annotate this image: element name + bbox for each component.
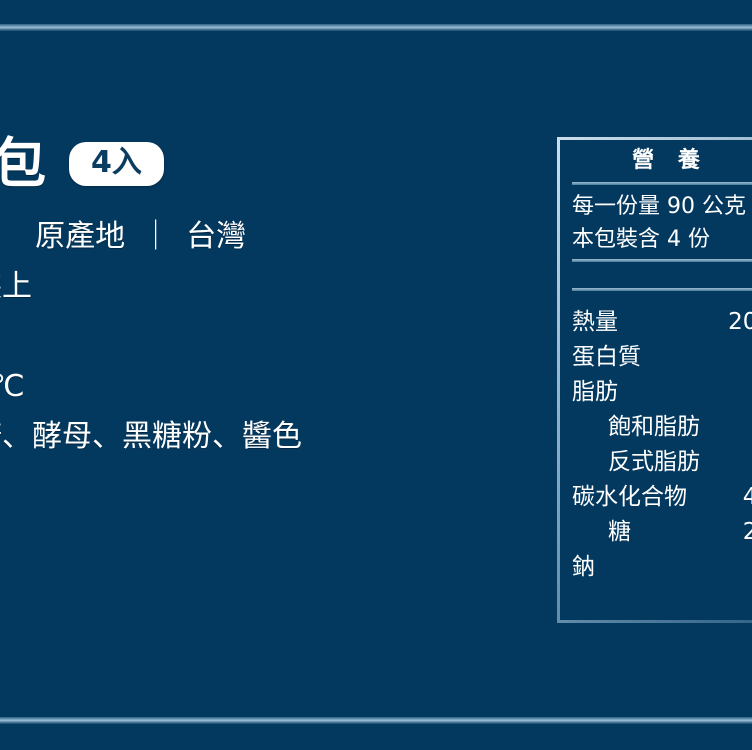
bottom-divider-rule bbox=[0, 717, 752, 724]
nutrition-row-label: 蛋白質 bbox=[572, 340, 641, 375]
nutrition-row: 蛋白質3 bbox=[572, 340, 752, 375]
nutrition-row: 糖24 bbox=[572, 515, 752, 550]
nutrition-row-value: 46 bbox=[729, 480, 752, 515]
spec-line-ingredients: 、水、糖、酵母、黑糖粉、醬色 bbox=[0, 412, 442, 462]
spec-line-storage: 凍於-18℃ bbox=[0, 362, 442, 412]
nutrition-row-value: 5 bbox=[743, 375, 752, 410]
nutrition-rule-top bbox=[572, 182, 752, 185]
nutrition-row-label: 熱量 bbox=[572, 305, 618, 340]
nutrition-row-label: 鈉 bbox=[572, 550, 595, 585]
nutrition-facts-title: 營 養 bbox=[572, 144, 752, 178]
nutrition-row-label: 反式脂肪 bbox=[572, 445, 700, 480]
nutrition-row-value: 3 bbox=[743, 340, 752, 375]
nutrition-rows: 熱量207蛋白質3脂肪5飽和脂肪0反式脂肪碳水化合物46糖24鈉7 bbox=[572, 295, 752, 585]
storage-text: 凍於-18℃ bbox=[0, 369, 25, 404]
nutrition-row: 飽和脂肪0 bbox=[572, 410, 752, 445]
origin-value: 台灣 bbox=[186, 219, 246, 254]
product-label-page: 黑糖包 4入 公克 原產地 ｜ 台灣 示於包裝上 個月 凍於-18℃ 、水、糖、… bbox=[0, 0, 752, 750]
origin-label: 原產地 bbox=[35, 219, 125, 254]
nutrition-row: 反式脂肪 bbox=[572, 445, 752, 480]
nutrition-facts-panel: 營 養 每一份量 90 公克 本包裝含 4 份 熱量207蛋白質3脂肪5飽和脂肪… bbox=[557, 137, 752, 623]
spacer bbox=[572, 266, 752, 284]
product-info-column: 黑糖包 4入 公克 原產地 ｜ 台灣 示於包裝上 個月 凍於-18℃ 、水、糖、… bbox=[0, 132, 442, 462]
nutrition-row: 熱量207 bbox=[572, 305, 752, 340]
nutrition-row: 碳水化合物46 bbox=[572, 480, 752, 515]
nutrition-rule-middle bbox=[572, 259, 752, 262]
status-badge: 4入 bbox=[69, 142, 164, 186]
servings-per-container-text: 本包裝含 4 份 bbox=[572, 222, 752, 255]
nutrition-row-label: 飽和脂肪 bbox=[572, 410, 700, 445]
top-divider-rule bbox=[0, 24, 752, 31]
nutrition-row-value: 0 bbox=[743, 410, 752, 445]
nutrition-row-label: 脂肪 bbox=[572, 375, 618, 410]
product-title-row: 黑糖包 4入 bbox=[0, 132, 442, 196]
serving-size-text: 每一份量 90 公克 bbox=[572, 189, 752, 222]
nutrition-rule-lower bbox=[572, 288, 752, 291]
nutrition-row-label: 糖 bbox=[572, 515, 631, 550]
ingredients-text: 、水、糖、酵母、黑糖粉、醬色 bbox=[0, 419, 302, 454]
nutrition-row: 鈉7 bbox=[572, 550, 752, 585]
origin-separator: ｜ bbox=[135, 212, 177, 262]
nutrition-row-value: 207 bbox=[714, 305, 752, 340]
page-title: 黑糖包 bbox=[0, 133, 47, 195]
spec-line-marking: 示於包裝上 bbox=[0, 262, 442, 312]
nutrition-row-value: 24 bbox=[729, 515, 752, 550]
spec-line-origin: 公克 原產地 ｜ 台灣 bbox=[0, 212, 442, 262]
spec-line-shelf-life: 個月 bbox=[0, 312, 442, 362]
marking-text: 示於包裝上 bbox=[0, 269, 32, 304]
nutrition-row-value: 7 bbox=[743, 550, 752, 585]
nutrition-row-label: 碳水化合物 bbox=[572, 480, 687, 515]
nutrition-row: 脂肪5 bbox=[572, 375, 752, 410]
